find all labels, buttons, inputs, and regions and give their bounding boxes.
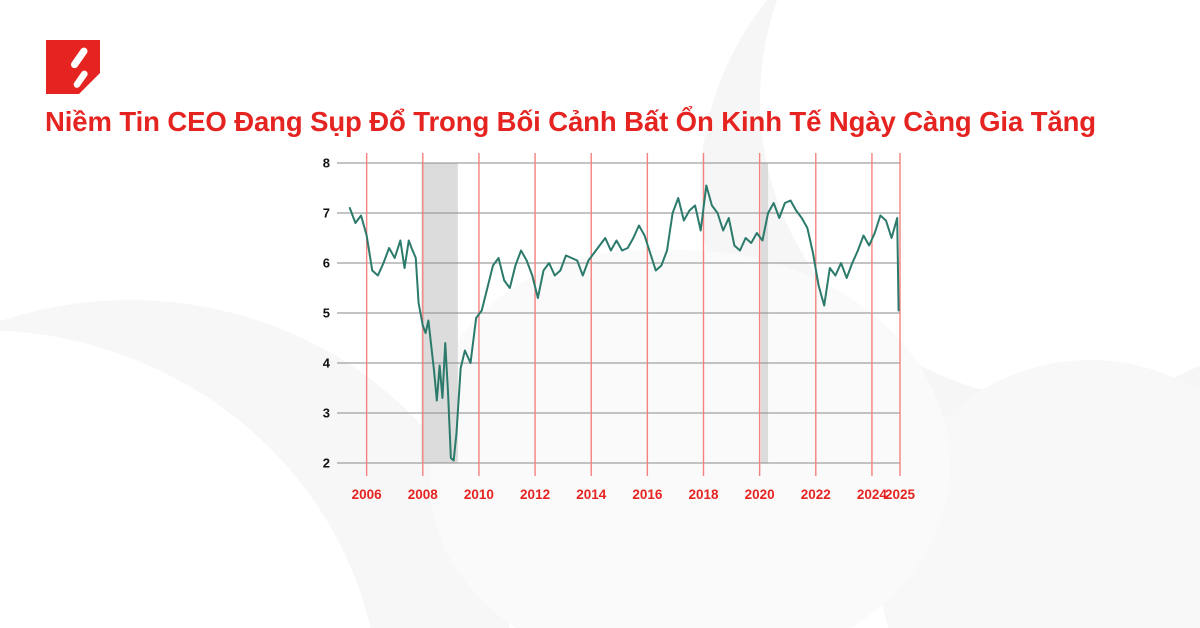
- chart-container: 2345678200620082010201220142016201820202…: [300, 150, 920, 510]
- x-axis-tick-label: 2022: [801, 487, 831, 502]
- y-axis-tick-label: 2: [323, 456, 330, 471]
- x-axis-tick-label: 2006: [352, 487, 383, 502]
- brand-logo: [46, 40, 100, 94]
- y-axis-tick-label: 7: [323, 206, 330, 221]
- x-axis-tick-label: 2014: [576, 487, 607, 502]
- y-axis-tick-label: 8: [323, 156, 330, 171]
- x-axis-tick-label: 2018: [688, 487, 719, 502]
- ceo-confidence-line-chart: 2345678200620082010201220142016201820202…: [300, 150, 920, 510]
- y-axis-tick-label: 5: [323, 306, 330, 321]
- x-axis-tick-label: 2010: [464, 487, 494, 502]
- background-watermark-shape: [880, 360, 1200, 628]
- x-axis-tick-label: 2008: [408, 487, 439, 502]
- y-axis-tick-label: 3: [323, 406, 330, 421]
- x-axis-tick-label: 2012: [520, 487, 550, 502]
- y-axis-tick-label: 4: [323, 356, 331, 371]
- poster-canvas: Niềm Tin CEO Đang Sụp Đổ Trong Bối Cảnh …: [0, 0, 1200, 628]
- page-title: Niềm Tin CEO Đang Sụp Đổ Trong Bối Cảnh …: [45, 104, 1175, 140]
- x-axis-tick-label: 2016: [632, 487, 663, 502]
- x-axis-tick-label: 2020: [745, 487, 775, 502]
- flipboard-square-logo-icon: [46, 40, 100, 94]
- y-axis-tick-label: 6: [323, 256, 330, 271]
- x-axis-tick-label: 2025: [885, 487, 916, 502]
- x-axis-tick-label: 2024: [857, 487, 888, 502]
